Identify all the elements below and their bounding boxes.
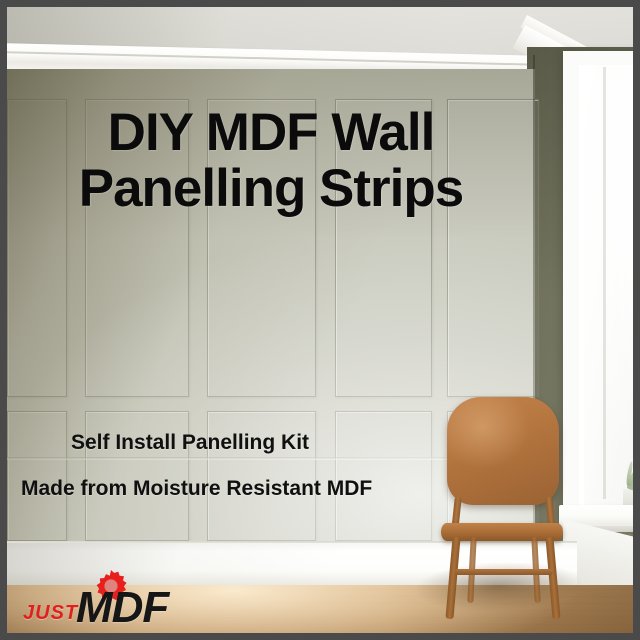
page-title: DIY MDF Wall Panelling Strips (7, 105, 535, 217)
chair-leg-front-right (545, 537, 560, 619)
wall-panel-lower-4 (335, 411, 432, 541)
logo-word-just: JUST (23, 602, 78, 625)
logo-word-mdf: MDF (76, 583, 168, 633)
potted-plant (603, 443, 633, 509)
chair-backrest-highlight (447, 397, 559, 505)
chair-stretcher (455, 569, 553, 575)
subheading-1: Self Install Panelling Kit (71, 431, 309, 455)
window-daylight-glow (579, 65, 633, 505)
headline-line-2: Panelling Strips (7, 161, 535, 217)
subheading-2: Made from Moisture Resistant MDF (21, 477, 372, 501)
room-scene: DIY MDF Wall Panelling Strips Self Insta… (7, 7, 633, 633)
wall-panel-lower-1 (7, 411, 67, 541)
window-jamb (603, 67, 606, 499)
headline-line-1: DIY MDF Wall (108, 103, 435, 162)
brand-logo[interactable]: JUST MDF (21, 569, 196, 631)
wooden-chair (439, 397, 567, 622)
chair-leg-front-left (445, 537, 460, 619)
image-frame: DIY MDF Wall Panelling Strips Self Insta… (0, 0, 640, 640)
